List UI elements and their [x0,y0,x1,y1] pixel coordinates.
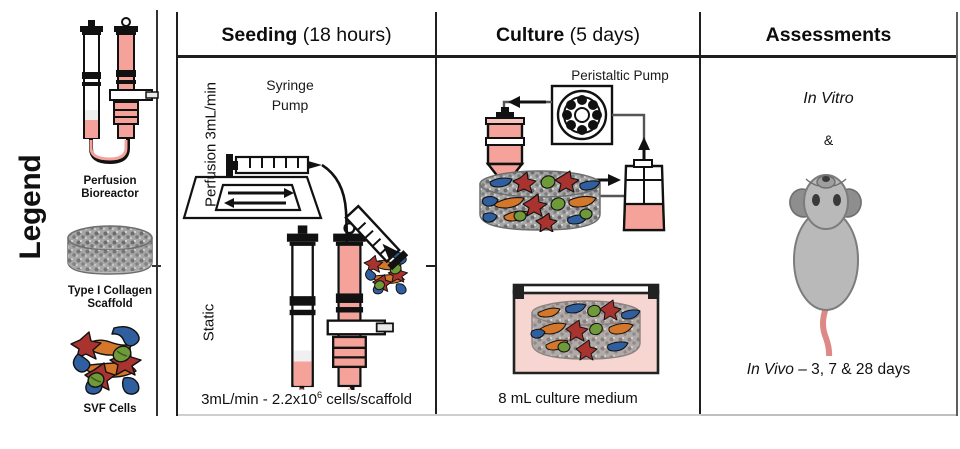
collagen-scaffold-icon [58,222,162,278]
assessment-ampersand: & [701,132,956,148]
figure-root: Legend [0,0,960,449]
legend-title: Legend [14,142,48,272]
legend-label-perfusion-bioreactor: Perfusion Bioreactor [58,175,162,201]
workflow-table: Seeding (18 hours) Culture (5 days) Asse… [176,12,958,416]
column-divider-culture-assessments [699,12,701,416]
column-divider-seeding-culture [435,12,437,416]
perfusion-bioreactor-icon [58,16,162,168]
static-culture-illustration [506,277,666,387]
culture-footer-caption: 8 mL culture medium [437,390,699,407]
seeding-footer-caption: 3mL/min - 2.2x106 cells/scaffold [178,390,435,408]
legend-item-collagen-scaffold: Type I Collagen Scaffold [58,222,162,311]
assessment-in-vivo-label: In Vivo – 3, 7 & 28 days [701,361,956,379]
perfusion-culture-illustration: Peristaltic Pump [458,62,696,232]
culture-row-divider-tick [426,265,435,267]
peristaltic-pump-label: Peristaltic Pump [571,68,669,83]
frame-border-right [956,12,958,416]
column-header-assessments: Assessments [701,24,956,47]
legend-item-svf-cells: SVF Cells [58,320,162,416]
row-label-perfusion: Perfusion 3mL/min [203,70,220,220]
legend-label-svf-cells: SVF Cells [58,403,162,416]
syringe-pump-label-line1: Syringe [266,77,314,93]
mouse-illustration [768,160,890,356]
row-label-static: Static [201,268,218,378]
assessment-in-vitro-label: In Vitro [701,90,956,108]
legend-label-collagen-scaffold: Type I Collagen Scaffold [58,285,162,311]
legend-item-perfusion-bioreactor: Perfusion Bioreactor [58,16,162,201]
column-header-culture: Culture (5 days) [437,24,699,47]
syringe-pump-label-line2: Pump [272,97,309,113]
legend-panel: Legend [0,0,160,449]
column-header-seeding: Seeding (18 hours) [178,24,435,47]
seeded-scaffold-perfusion [480,171,600,232]
svf-cells-icon [58,320,162,396]
mouse-icon [768,160,890,356]
assessments-footer-rule [701,414,956,416]
